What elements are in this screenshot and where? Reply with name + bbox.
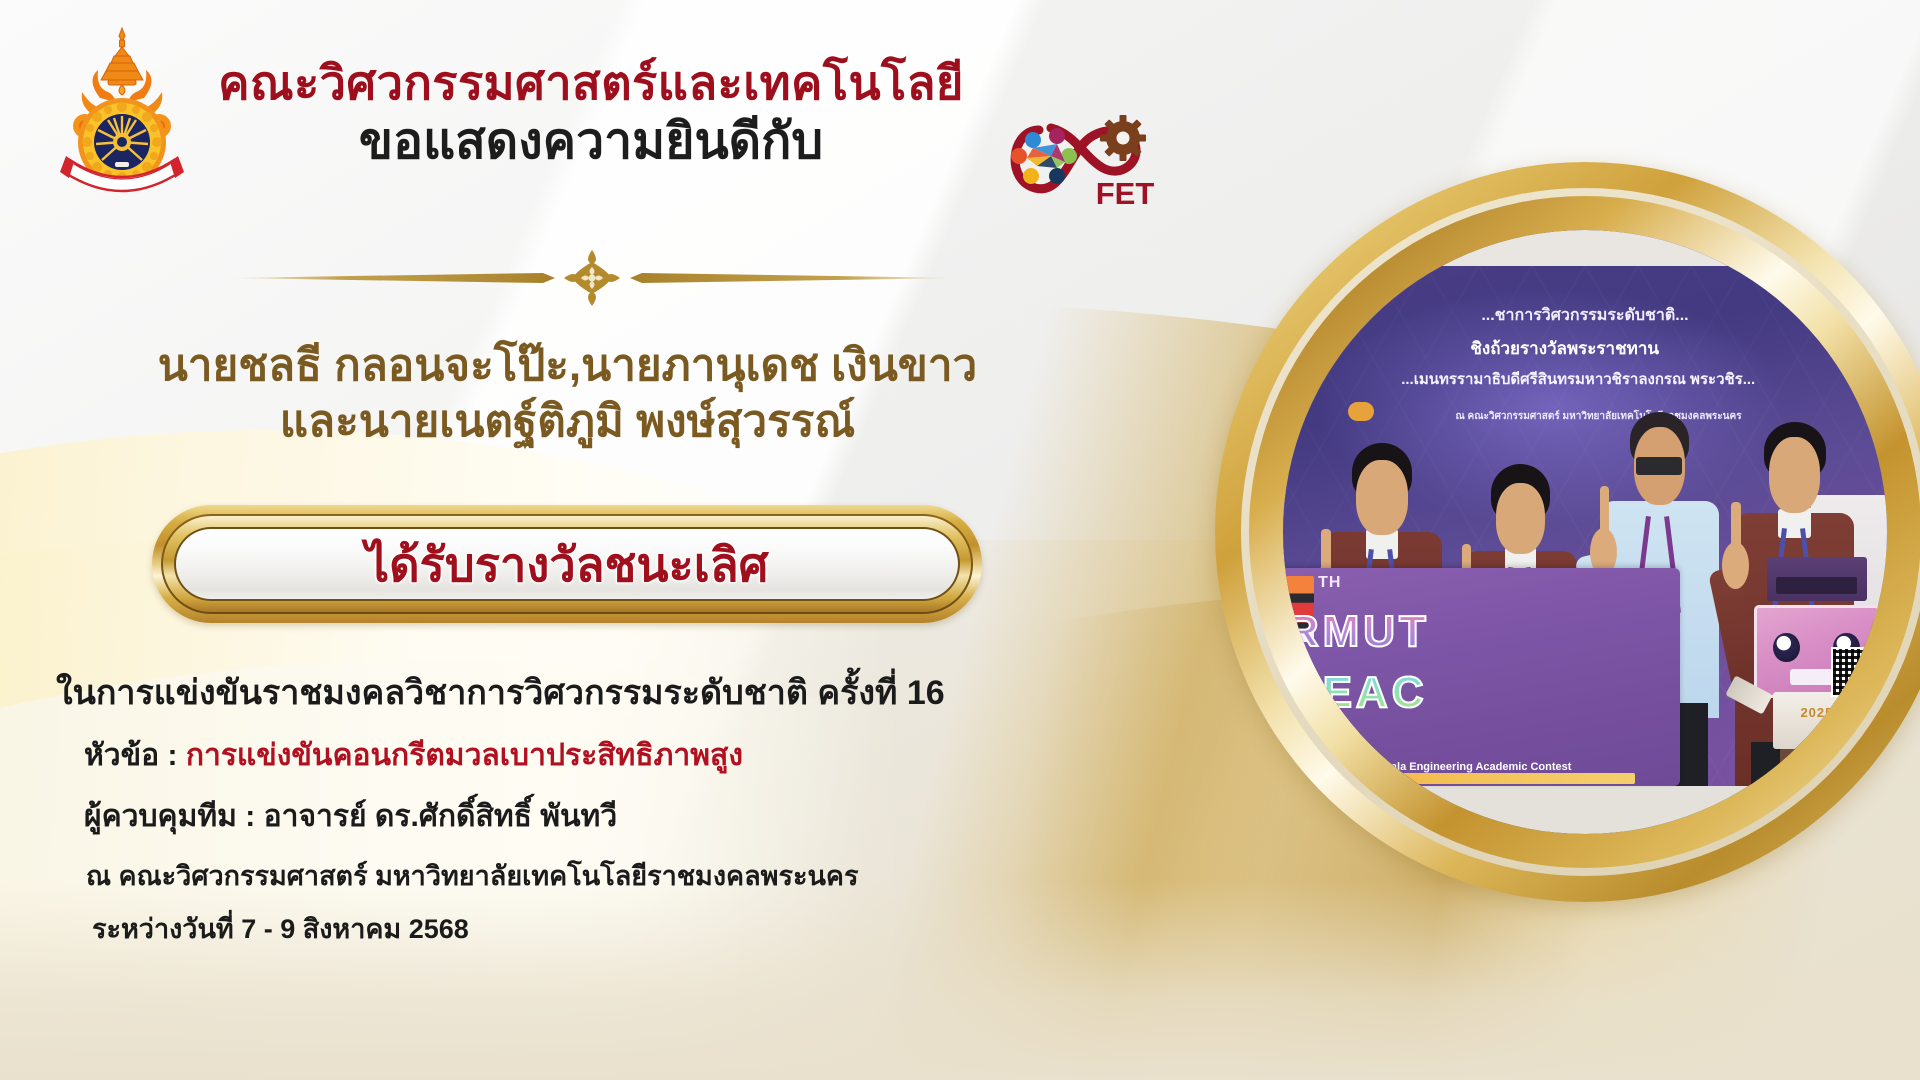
contest-sign-subtitle: ...ngala Engineering Academic Contest (1283, 761, 1662, 773)
congratulation-banner: คณะวิศวกรรมศาสตร์และเทคโนโลยี ขอแสดงความ… (0, 0, 1920, 1080)
contest-sign-bottom-bar (1283, 773, 1635, 784)
backdrop-line-1: ...ชาการวิศวกรรมระดับชาติ... (1301, 303, 1869, 328)
competition-line: ในการแข่งขันราชมงคลวิชาการวิศวกรรมระดับช… (56, 676, 1166, 710)
fet-logo-label: FET (1096, 176, 1155, 211)
team-award-photo: ...ชาการวิศวกรรมระดับชาติ... ชิงถ้วยรางว… (1283, 230, 1887, 834)
contest-sign-ordinal: TH (1318, 574, 1341, 592)
person-head (1769, 437, 1820, 513)
detail-block: ในการแข่งขันราชมงคลวิชาการวิศวกรรมระดับช… (56, 676, 1166, 943)
topic-label: หัวข้อ : (84, 739, 186, 772)
contest-sign: TH RMUT REAC ...ngala Engineering Academ… (1283, 568, 1680, 786)
backdrop-date-chip: 9 สิง (1283, 406, 1286, 421)
recipient-names: นายชลธี กลอนจะโป๊ะ,นายภานุเดช เงินขาว แล… (40, 338, 1095, 451)
recipient-line-1: นายชลธี กลอนจะโป๊ะ,นายภานุเดช เงินขาว (40, 338, 1095, 394)
robot-dark-eyes (1776, 577, 1857, 594)
robot-year-label: 2025 (1776, 705, 1857, 720)
topic-value: การแข่งขันคอนกรีตมวลเบาประสิทธิภาพสูง (186, 739, 743, 772)
fet-infinity-gear-logo-icon: FET (995, 106, 1175, 211)
dates-line: ระหว่างวันที่ 7 - 9 สิงหาคม 2568 (56, 916, 1166, 943)
backdrop-line-2: ชิงถ้วยรางวัลพระราชทาน (1301, 335, 1829, 362)
backdrop-line-3: ...เมนทรรามาธิบดีศรีสินทรมหาวชิราลงกรณ พ… (1283, 367, 1883, 391)
qr-code-icon (1831, 647, 1887, 698)
person-head (1356, 460, 1407, 535)
person-finger (1731, 502, 1740, 549)
person-eyeglasses-icon (1636, 457, 1682, 476)
photo-backdrop-board: ...ชาการวิศวกรรมระดับชาติ... ชิงถ้วยรางว… (1283, 266, 1887, 785)
person-head (1496, 483, 1545, 554)
topic-line: หัวข้อ : การแข่งขันคอนกรีตมวลเบาประสิทธิ… (56, 741, 1166, 771)
award-label: ได้รับรางวัลชนะเลิศ (366, 527, 769, 602)
gold-ornament-divider-icon (225, 248, 960, 308)
congratulation-title: ขอแสดงความยินดีกับ (196, 114, 986, 169)
advisor-line: ผู้ควบคุมทีม : อาจารย์ ดร.ศักดิ์สิทธิ์ พ… (56, 802, 1166, 832)
contest-sign-line-1: RMUT (1287, 607, 1430, 657)
robot-eye-left (1773, 633, 1799, 663)
photo-medallion: ...ชาการวิศวกรรมระดับชาติ... ชิงถ้วยรางว… (1215, 162, 1920, 902)
award-badge: ได้รับรางวัลชนะเลิศ (152, 505, 982, 623)
robot-body (1773, 692, 1861, 749)
university-seal-icon (52, 22, 192, 212)
venue-line: ณ คณะวิศวกรรมศาสตร์ มหาวิทยาลัยเทคโนโลยี… (56, 863, 1166, 890)
photo-url-label: reac.rm (1877, 713, 1887, 723)
award-badge-face: ได้รับรางวัลชนะเลิศ (176, 529, 958, 599)
header-text-block: คณะวิศวกรรมศาสตร์และเทคโนโลยี ขอแสดงความ… (196, 58, 986, 169)
contest-sign-line-2: REAC (1287, 668, 1428, 718)
robot-leg-right (1838, 749, 1864, 775)
faculty-title: คณะวิศวกรรมศาสตร์และเทคโนโลยี (196, 58, 986, 108)
recipient-line-2: และนายเนตฐ์ติภูมิ พงษ์สุวรรณ์ (40, 394, 1095, 450)
robot-leg-left (1780, 749, 1806, 775)
person-finger (1600, 486, 1609, 535)
